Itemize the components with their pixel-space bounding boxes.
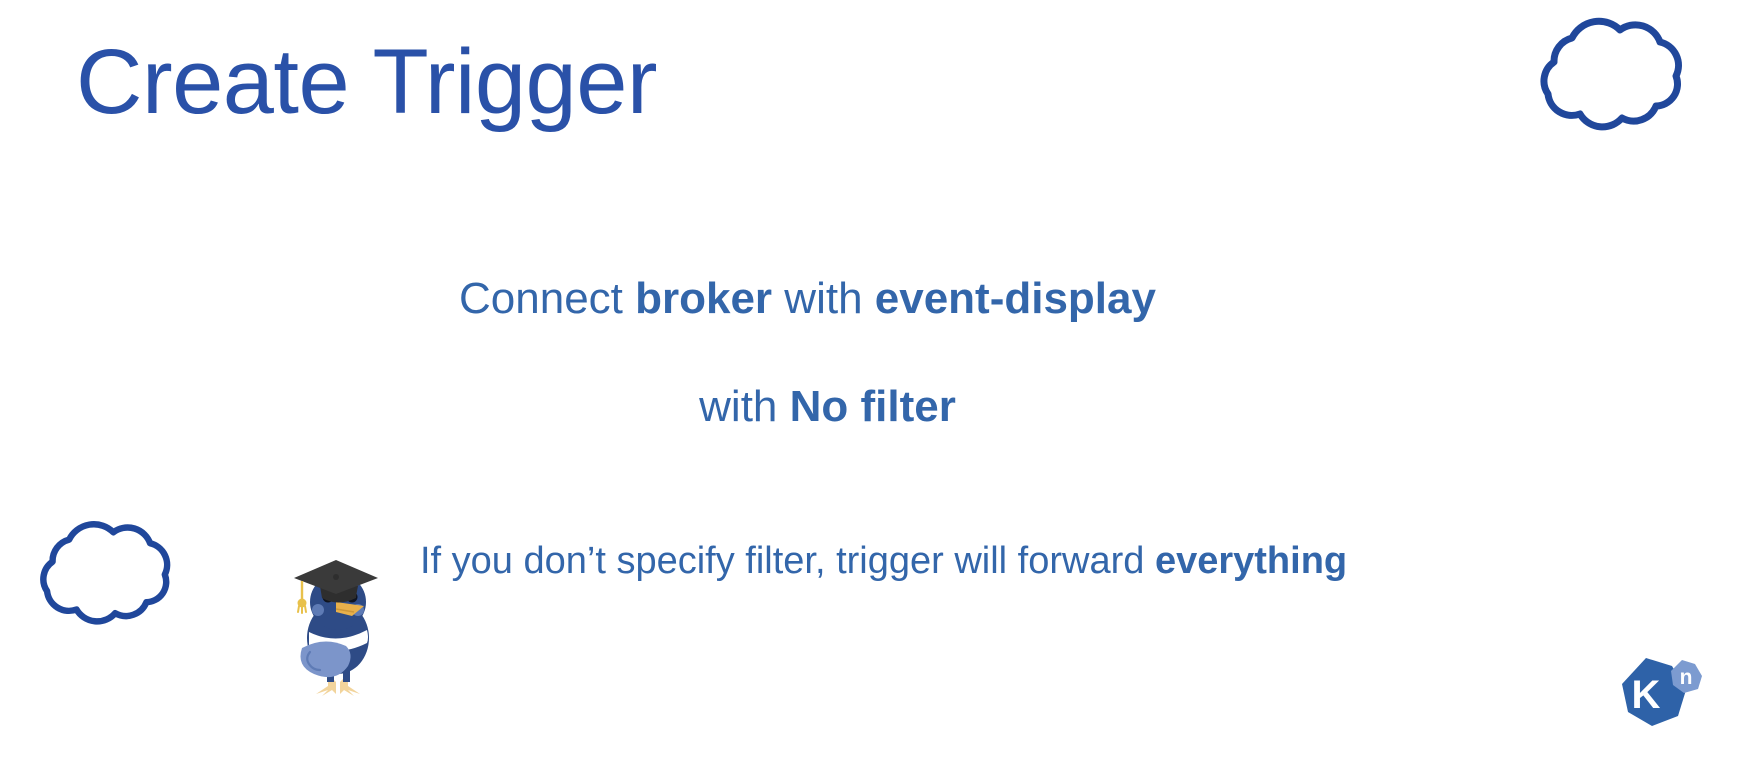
connect-text-middle: with — [772, 274, 875, 323]
slide-canvas: Create Trigger Connect broker with event… — [0, 0, 1750, 766]
instruction-line-note: If you don’t specify filter, trigger wil… — [420, 540, 1347, 583]
cloud-outline-icon — [1510, 8, 1700, 138]
knative-letter-n: n — [1680, 666, 1693, 689]
broker-keyword: broker — [635, 274, 772, 323]
everything-keyword: everything — [1155, 540, 1347, 582]
instruction-line-filter: with No filter — [0, 382, 1750, 432]
knative-logo: K n — [1610, 652, 1710, 747]
graduate-bird-mascot — [290, 556, 382, 701]
cloud-outline-icon — [12, 512, 187, 632]
connect-text-prefix: Connect — [459, 274, 635, 323]
knative-letter-k: K — [1632, 673, 1661, 717]
instruction-line-connect: Connect broker with event-display — [0, 274, 1750, 324]
no-filter-keyword: No filter — [790, 382, 956, 431]
filter-text-prefix: with — [699, 382, 789, 431]
note-text-prefix: If you don’t specify filter, trigger wil… — [420, 540, 1155, 582]
event-display-keyword: event-display — [875, 274, 1156, 323]
page-title: Create Trigger — [76, 34, 657, 131]
